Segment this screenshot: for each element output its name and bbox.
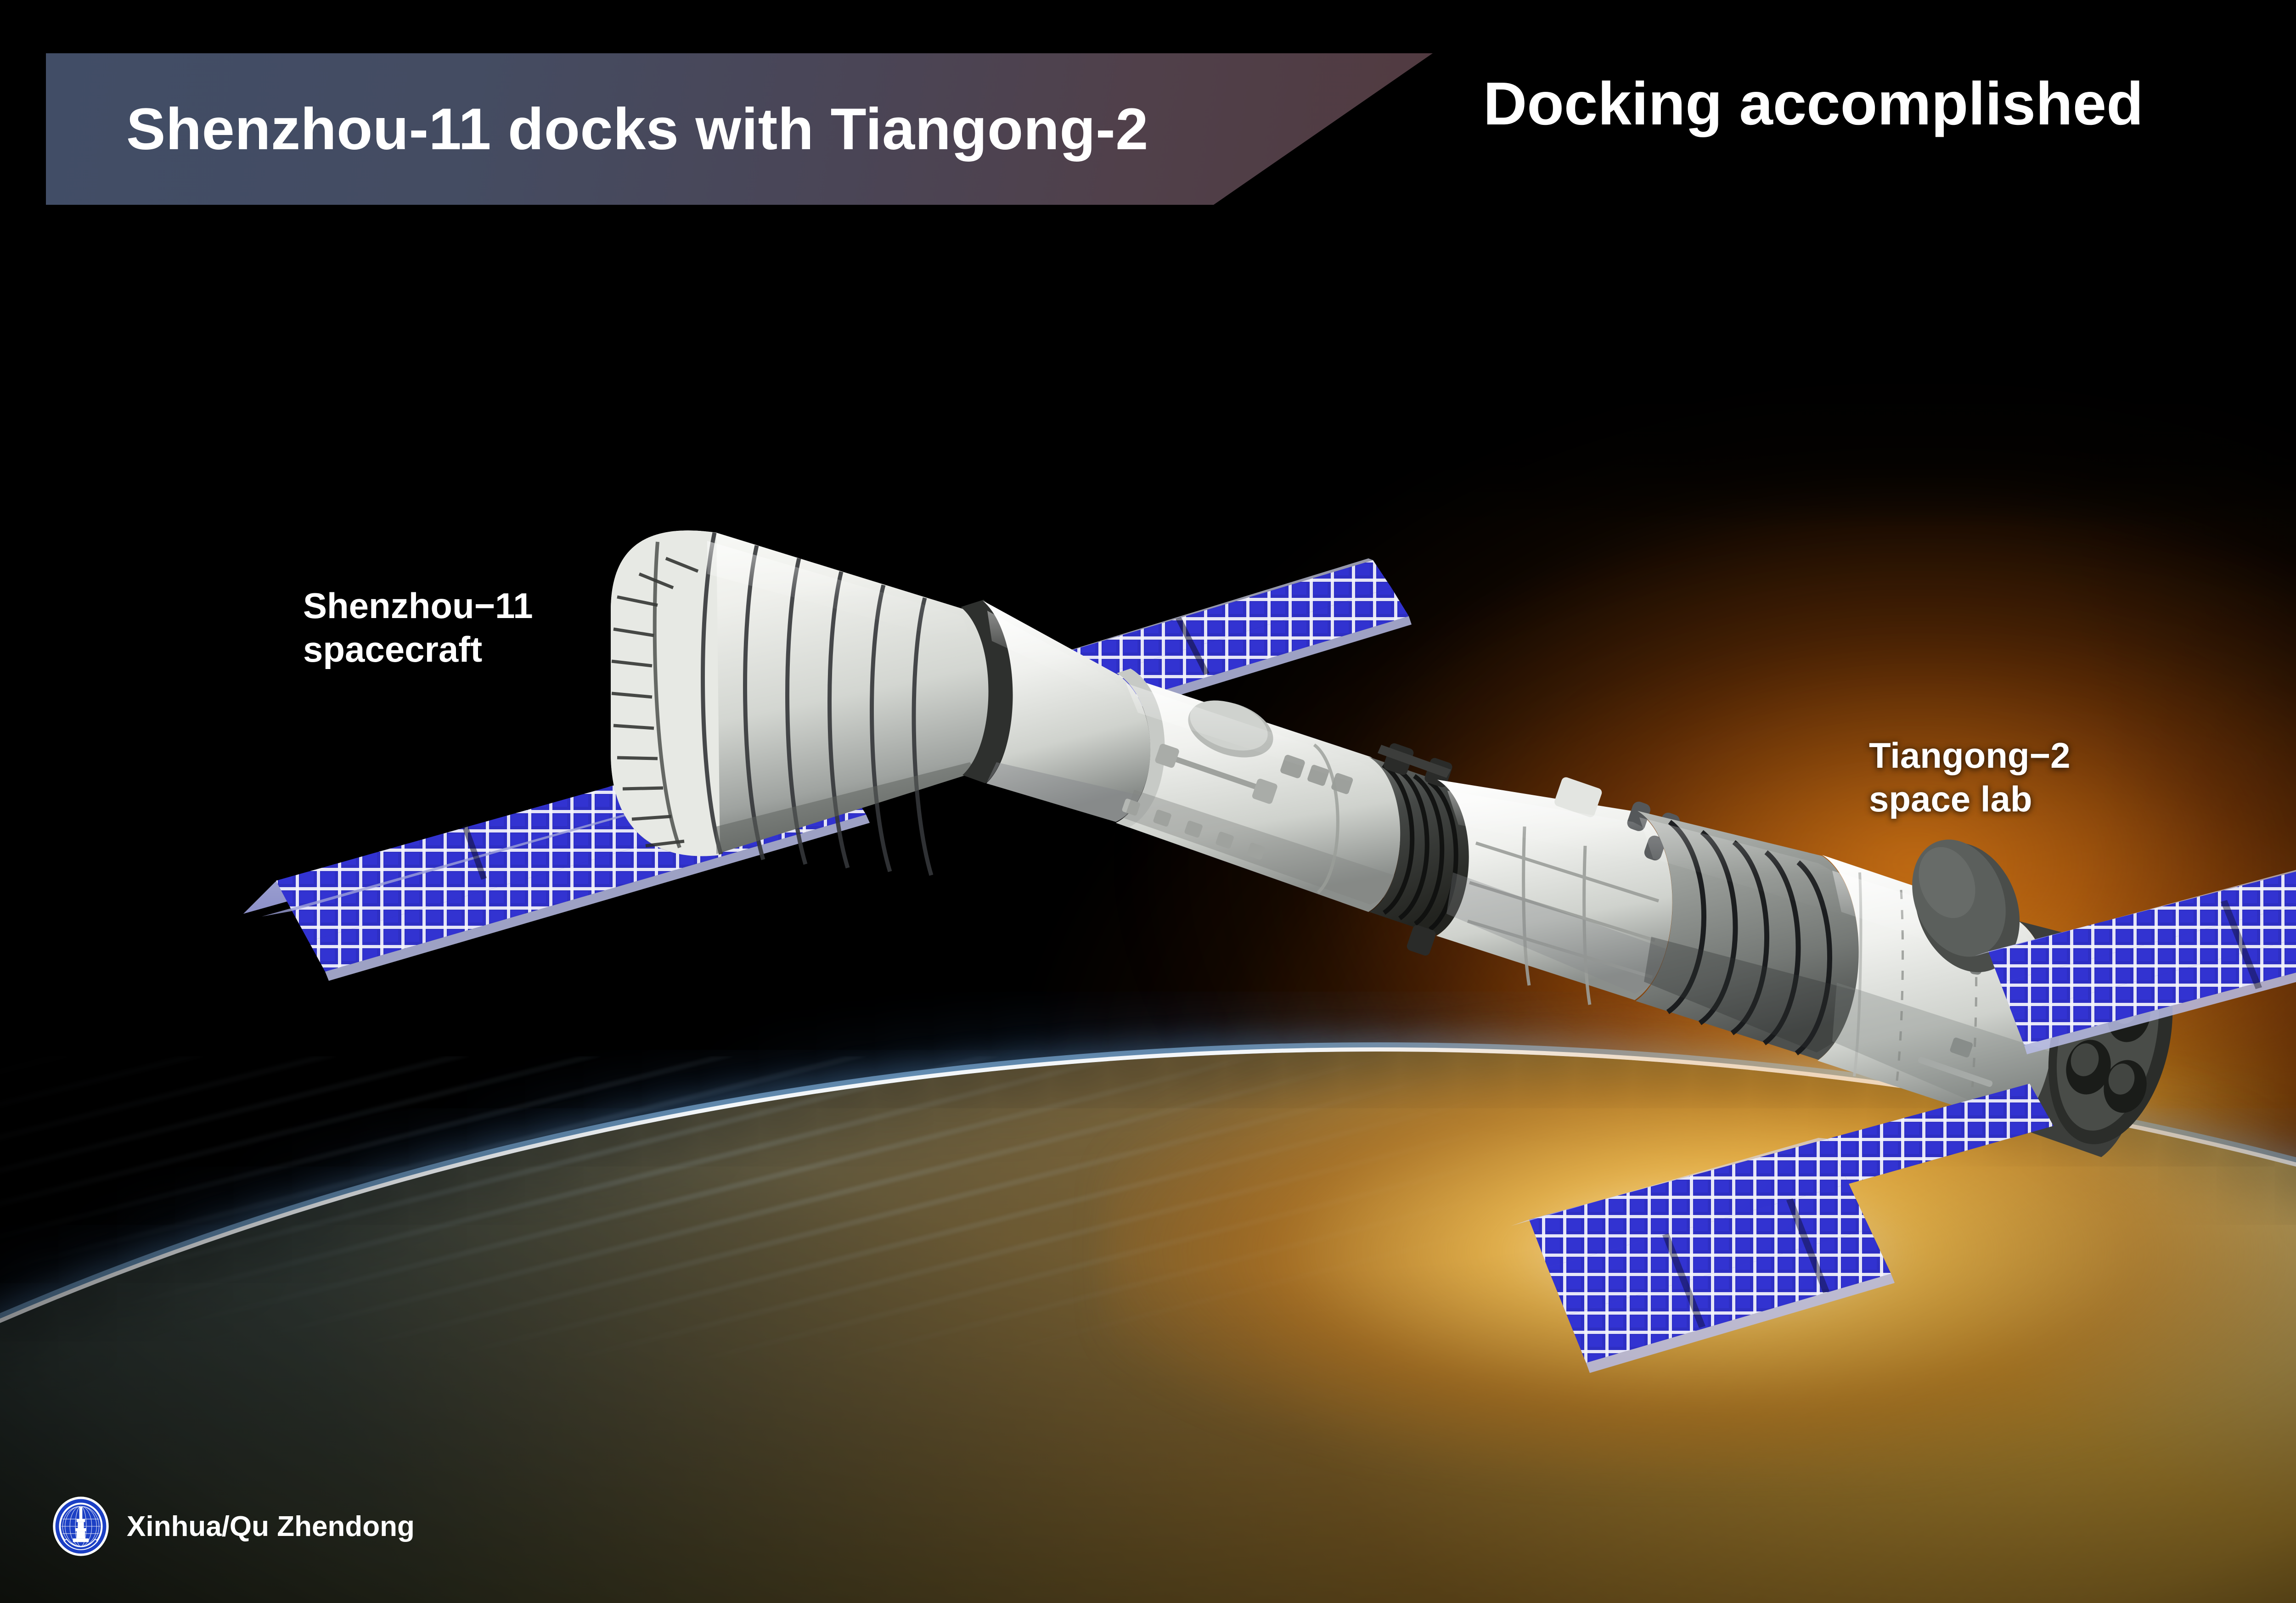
credit-text: Xinhua/Qu Zhendong (127, 1510, 415, 1543)
banner-title-text: Shenzhou-11 docks with Tiangong-2 (126, 96, 1148, 163)
title-banner: Shenzhou-11 docks with Tiangong-2 (46, 53, 1433, 205)
xinhua-logo-icon (51, 1496, 111, 1557)
callout-shenzhou-11: Shenzhou−11 spacecraft (303, 584, 533, 671)
callout-tiangong-2: Tiangong−2 space lab (1869, 734, 2070, 821)
infographic-canvas: Shenzhou-11 docks with Tiangong-2 Dockin… (0, 0, 2296, 1603)
credit-block: Xinhua/Qu Zhendong (51, 1496, 415, 1557)
headline-text: Docking accomplished (1483, 69, 2144, 138)
